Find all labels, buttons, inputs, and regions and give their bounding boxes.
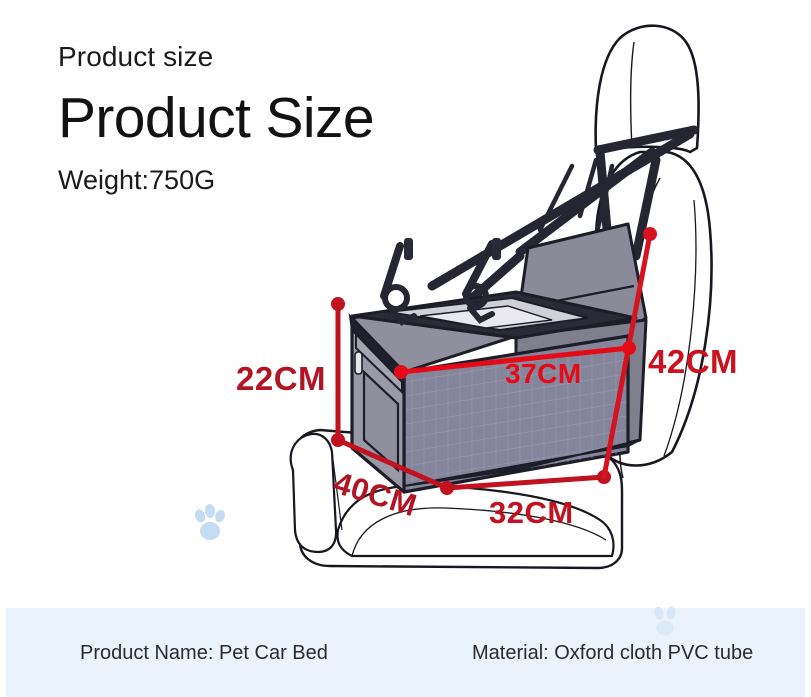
bottom-info-band: Product Name: Pet Car Bed Material: Oxfo… — [6, 608, 805, 697]
band-row: Product Name: Pet Car Bed Material: Oxfo… — [6, 608, 805, 697]
material-text: Material: Oxford cloth PVC tube — [472, 641, 753, 665]
page-title: Product Size — [58, 86, 374, 150]
weight-label: Weight:750G — [58, 164, 374, 196]
product-name-text: Product Name: Pet Car Bed — [80, 641, 328, 665]
dimension-label-back-height: 42CM — [648, 343, 738, 381]
pet-car-bed — [350, 224, 646, 492]
eyebrow-label: Product size — [58, 40, 374, 74]
dimension-label-base-width: 32CM — [489, 495, 574, 531]
header-text-block: Product size Product Size Weight:750G — [58, 40, 374, 196]
product-size-infographic: Product size Product Size Weight:750G — [0, 0, 811, 697]
dimension-label-inner-width: 37CM — [505, 358, 582, 390]
dimension-label-height: 22CM — [236, 360, 326, 398]
paw-print-icon — [645, 601, 685, 641]
paw-print-icon — [186, 500, 232, 546]
